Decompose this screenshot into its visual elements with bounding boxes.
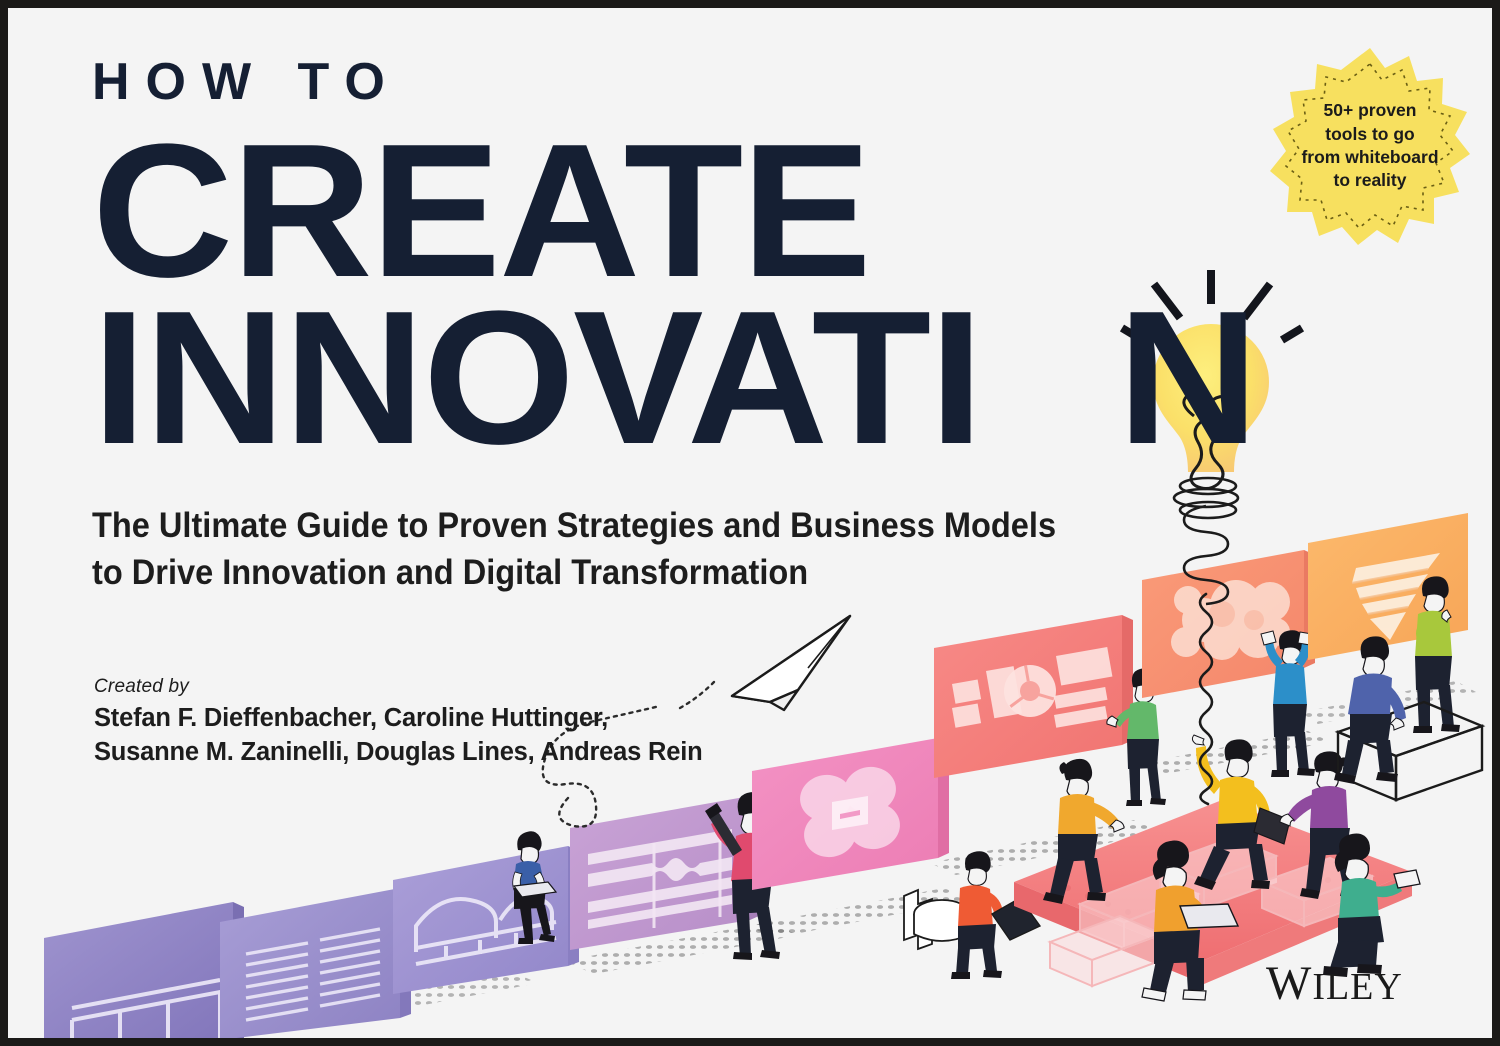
panel-lines <box>220 888 411 1038</box>
title-line-innovation: INNOVATIN <box>92 297 1472 460</box>
person-laptop-sitting <box>513 831 556 944</box>
paper-plane-icon <box>732 616 850 710</box>
bulb-coil-line <box>1184 506 1228 804</box>
credits-block: Created by Stefan F. Dieffenbacher, Caro… <box>94 676 702 769</box>
person-pulling-block <box>1043 759 1124 904</box>
subtitle-line-2: to Drive Innovation and Digital Transfor… <box>92 550 1078 597</box>
title-block: HOW TO CREATE INNOVATIN <box>92 56 1432 461</box>
person-thinking-funnel <box>1413 576 1460 733</box>
panel-dashboard <box>934 615 1133 778</box>
panel-cloud <box>1142 550 1315 777</box>
person-gear-laptop <box>904 851 1040 979</box>
title-innovation-suffix: N <box>1117 297 1256 460</box>
title-line-create: CREATE <box>92 130 1472 293</box>
panel-table <box>44 902 244 1038</box>
person-center-bulb <box>1192 735 1290 890</box>
person-sticky-notes <box>1261 630 1315 777</box>
panel-funnel <box>1308 513 1468 733</box>
panel-arches <box>393 846 579 994</box>
person-presenting-green <box>1107 668 1166 806</box>
person-pushing-block <box>1280 751 1360 899</box>
badge-line-1: 50+ proven <box>1324 99 1417 122</box>
publisher-logo: WILEY <box>1266 956 1403 1011</box>
book-cover: HOW TO CREATE INNOVATIN The Ultimate Gui… <box>8 8 1492 1038</box>
panel-timeline <box>570 796 761 950</box>
authors-line-1: Stefan F. Dieffenbacher, Caroline Huttin… <box>94 702 702 736</box>
title-kicker: HOW TO <box>92 56 1432 108</box>
panel-clover <box>752 738 949 890</box>
person-writing-board <box>705 792 783 960</box>
badge-line-3: from whiteboard <box>1301 146 1438 169</box>
person-lifting-box <box>1334 636 1482 800</box>
badge-line-4: to reality <box>1334 169 1407 192</box>
authors-line-2: Susanne M. Zaninelli, Douglas Lines, And… <box>94 736 702 770</box>
person-laptop-stage <box>1142 841 1238 1001</box>
publisher-name-rest: ILEY <box>1312 966 1403 1008</box>
publisher-initial: W <box>1266 957 1312 1010</box>
subtitle-line-1: The Ultimate Guide to Proven Strategies … <box>92 503 1078 550</box>
promo-badge: 50+ proven tools to go from whiteboard t… <box>1270 46 1470 246</box>
subtitle: The Ultimate Guide to Proven Strategies … <box>92 503 1078 596</box>
title-innovation-prefix: INNOVATI <box>92 297 982 460</box>
badge-line-2: tools to go <box>1325 123 1414 146</box>
badge-text: 50+ proven tools to go from whiteboard t… <box>1270 46 1470 246</box>
created-by-label: Created by <box>94 676 702 698</box>
